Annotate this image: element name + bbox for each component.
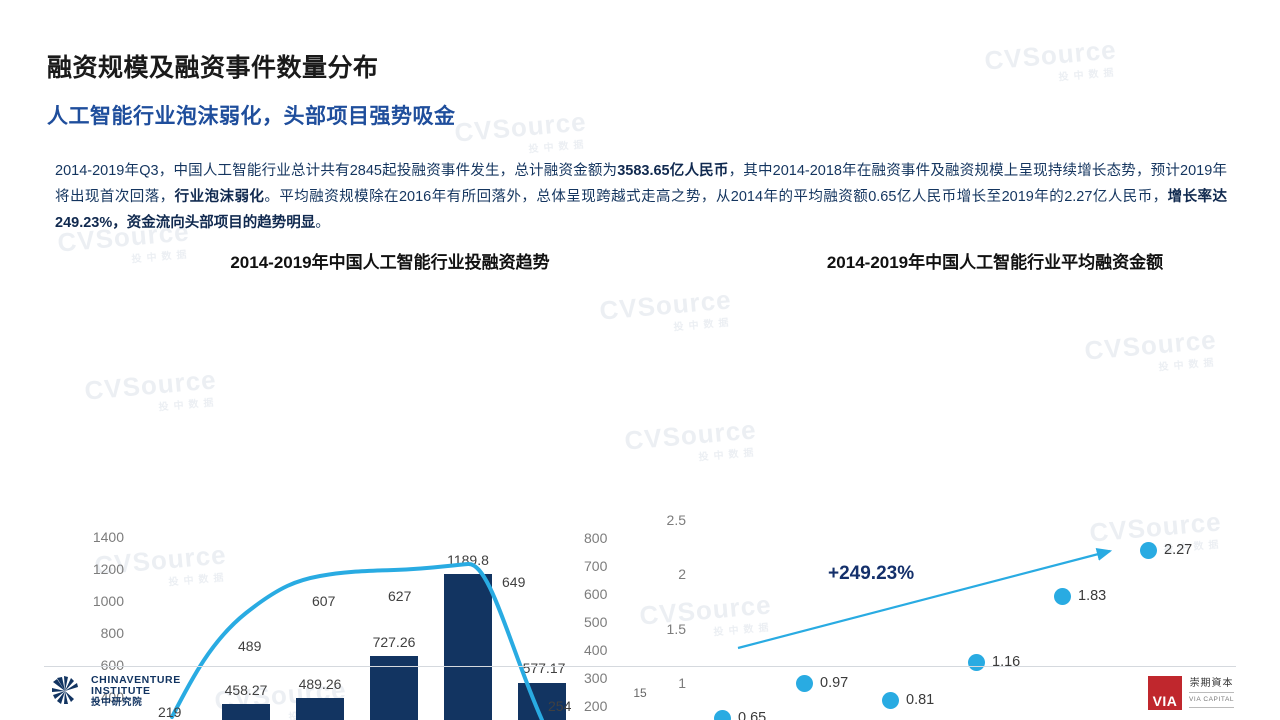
body-paragraph: 2014-2019年Q3，中国人工智能行业总计共有2845起投融资事件发生，总计… xyxy=(55,158,1227,236)
chart-left-panel: 2014-2019年中国人工智能行业投融资趋势 1400 1200 1000 8… xyxy=(40,248,640,648)
para-seg-3: 。平均融资规模除在2016年有所回落外，总体呈现跨越式走高之势，从2014年的平… xyxy=(264,189,1167,205)
via-name: 崇期資本 xyxy=(1189,678,1234,690)
chinaventure-wordmark: CHINAVENTURE INSTITUTE 投中研究院 xyxy=(91,675,181,708)
watermark: CVSource投中数据 xyxy=(983,34,1119,89)
scatter-dot-2018[interactable] xyxy=(1054,588,1071,605)
logo-line-1: CHINAVENTURE xyxy=(91,675,181,686)
line-value-2017: 627 xyxy=(388,588,411,604)
line-value-2018: 649 xyxy=(502,574,525,590)
events-line-series xyxy=(40,248,640,720)
logo-chinaventure: CHINAVENTURE INSTITUTE 投中研究院 xyxy=(48,674,181,708)
para-bold-1: 3583.65亿人民币 xyxy=(617,163,728,179)
scatter-value-2019Q1-Q3: 2.27 xyxy=(1164,542,1192,558)
logo-via-capital: VIA 崇期資本 VIA CAPITAL xyxy=(1148,676,1234,710)
via-wordmark: 崇期資本 VIA CAPITAL xyxy=(1189,678,1234,708)
para-seg-4: 。 xyxy=(315,215,330,231)
page-title: 融资规模及融资事件数量分布 xyxy=(47,48,379,84)
scatter-dot-2019Q1-Q3[interactable] xyxy=(1140,542,1157,559)
via-sub: VIA CAPITAL xyxy=(1189,692,1234,708)
scatter-dot-2017[interactable] xyxy=(968,654,985,671)
growth-rate-annotation: +249.23% xyxy=(828,563,914,585)
para-seg-1: 2014-2019年Q3，中国人工智能行业总计共有2845起投融资事件发生，总计… xyxy=(55,163,617,179)
line-value-2019Q1-Q3: 254 xyxy=(548,698,571,714)
chart-right-panel: 2014-2019年中国人工智能行业平均融资金额 2.5 2 1.5 1 0.5… xyxy=(650,248,1250,648)
scatter-dot-2014[interactable] xyxy=(714,710,731,720)
trend-arrow-icon xyxy=(650,248,1250,720)
page-number: 15 xyxy=(0,686,1280,700)
para-bold-2: 行业泡沫弱化 xyxy=(175,189,265,205)
slide: CVSource投中数据 CVSource投中数据 CVSource投中数据 C… xyxy=(0,0,1280,720)
logo-line-3: 投中研究院 xyxy=(91,697,181,708)
line-value-2016: 607 xyxy=(312,593,335,609)
watermark: CVSource投中数据 xyxy=(453,106,589,161)
scatter-value-2014: 0.65 xyxy=(738,710,766,720)
logo-line-2: INSTITUTE xyxy=(91,686,181,697)
chinaventure-burst-icon xyxy=(48,674,82,708)
scatter-value-2017: 1.16 xyxy=(992,654,1020,670)
via-mark-icon: VIA xyxy=(1148,676,1182,710)
footer-divider xyxy=(44,666,1236,667)
line-value-2015: 489 xyxy=(238,638,261,654)
page-subtitle: 人工智能行业泡沫弱化，头部项目强势吸金 xyxy=(47,100,456,130)
scatter-value-2018: 1.83 xyxy=(1078,588,1106,604)
